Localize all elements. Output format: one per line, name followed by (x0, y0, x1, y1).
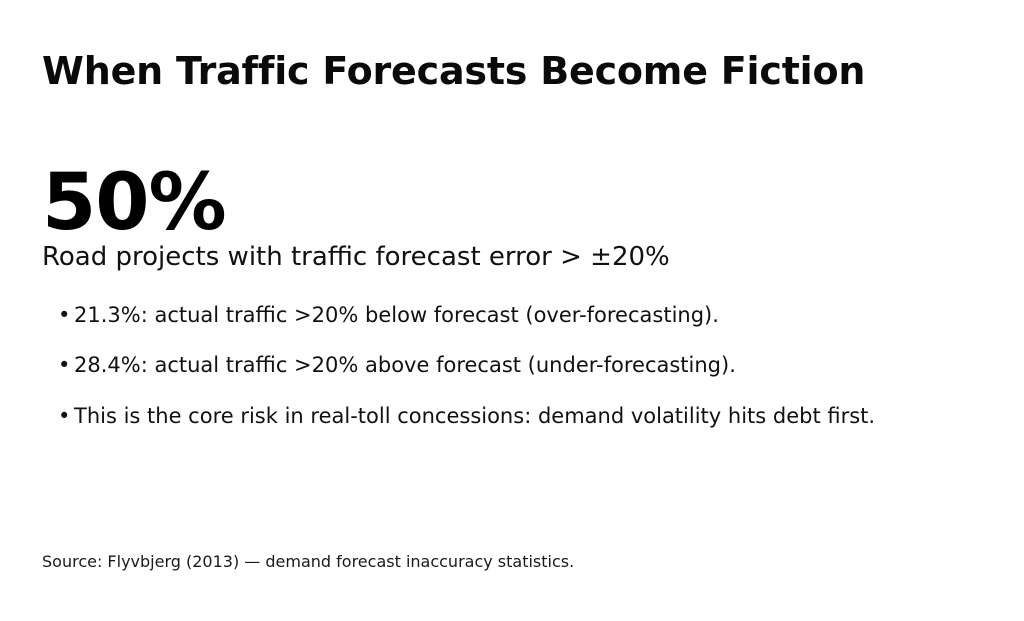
key-stat-block: 50% Road projects with traffic forecast … (42, 168, 670, 273)
list-item: • 21.3%: actual traffic >20% below forec… (42, 302, 982, 328)
key-stat-value: 50% (42, 168, 670, 240)
bullet-dot-icon: • (58, 302, 70, 328)
list-item: • 28.4%: actual traffic >20% above forec… (42, 352, 982, 378)
bullet-list: • 21.3%: actual traffic >20% below forec… (42, 302, 982, 429)
list-item-text: 28.4%: actual traffic >20% above forecas… (74, 353, 736, 377)
source-note: Source: Flyvbjerg (2013) — demand foreca… (42, 552, 574, 573)
page-title: When Traffic Forecasts Become Fiction (42, 51, 865, 93)
bullet-dot-icon: • (58, 403, 70, 429)
list-item-text: This is the core risk in real-toll conce… (74, 404, 875, 428)
list-item-text: 21.3%: actual traffic >20% below forecas… (74, 303, 719, 327)
key-stat-label: Road projects with traffic forecast erro… (42, 240, 670, 273)
bullet-dot-icon: • (58, 352, 70, 378)
list-item: • This is the core risk in real-toll con… (42, 403, 982, 429)
slide-canvas: When Traffic Forecasts Become Fiction 50… (0, 0, 1024, 621)
